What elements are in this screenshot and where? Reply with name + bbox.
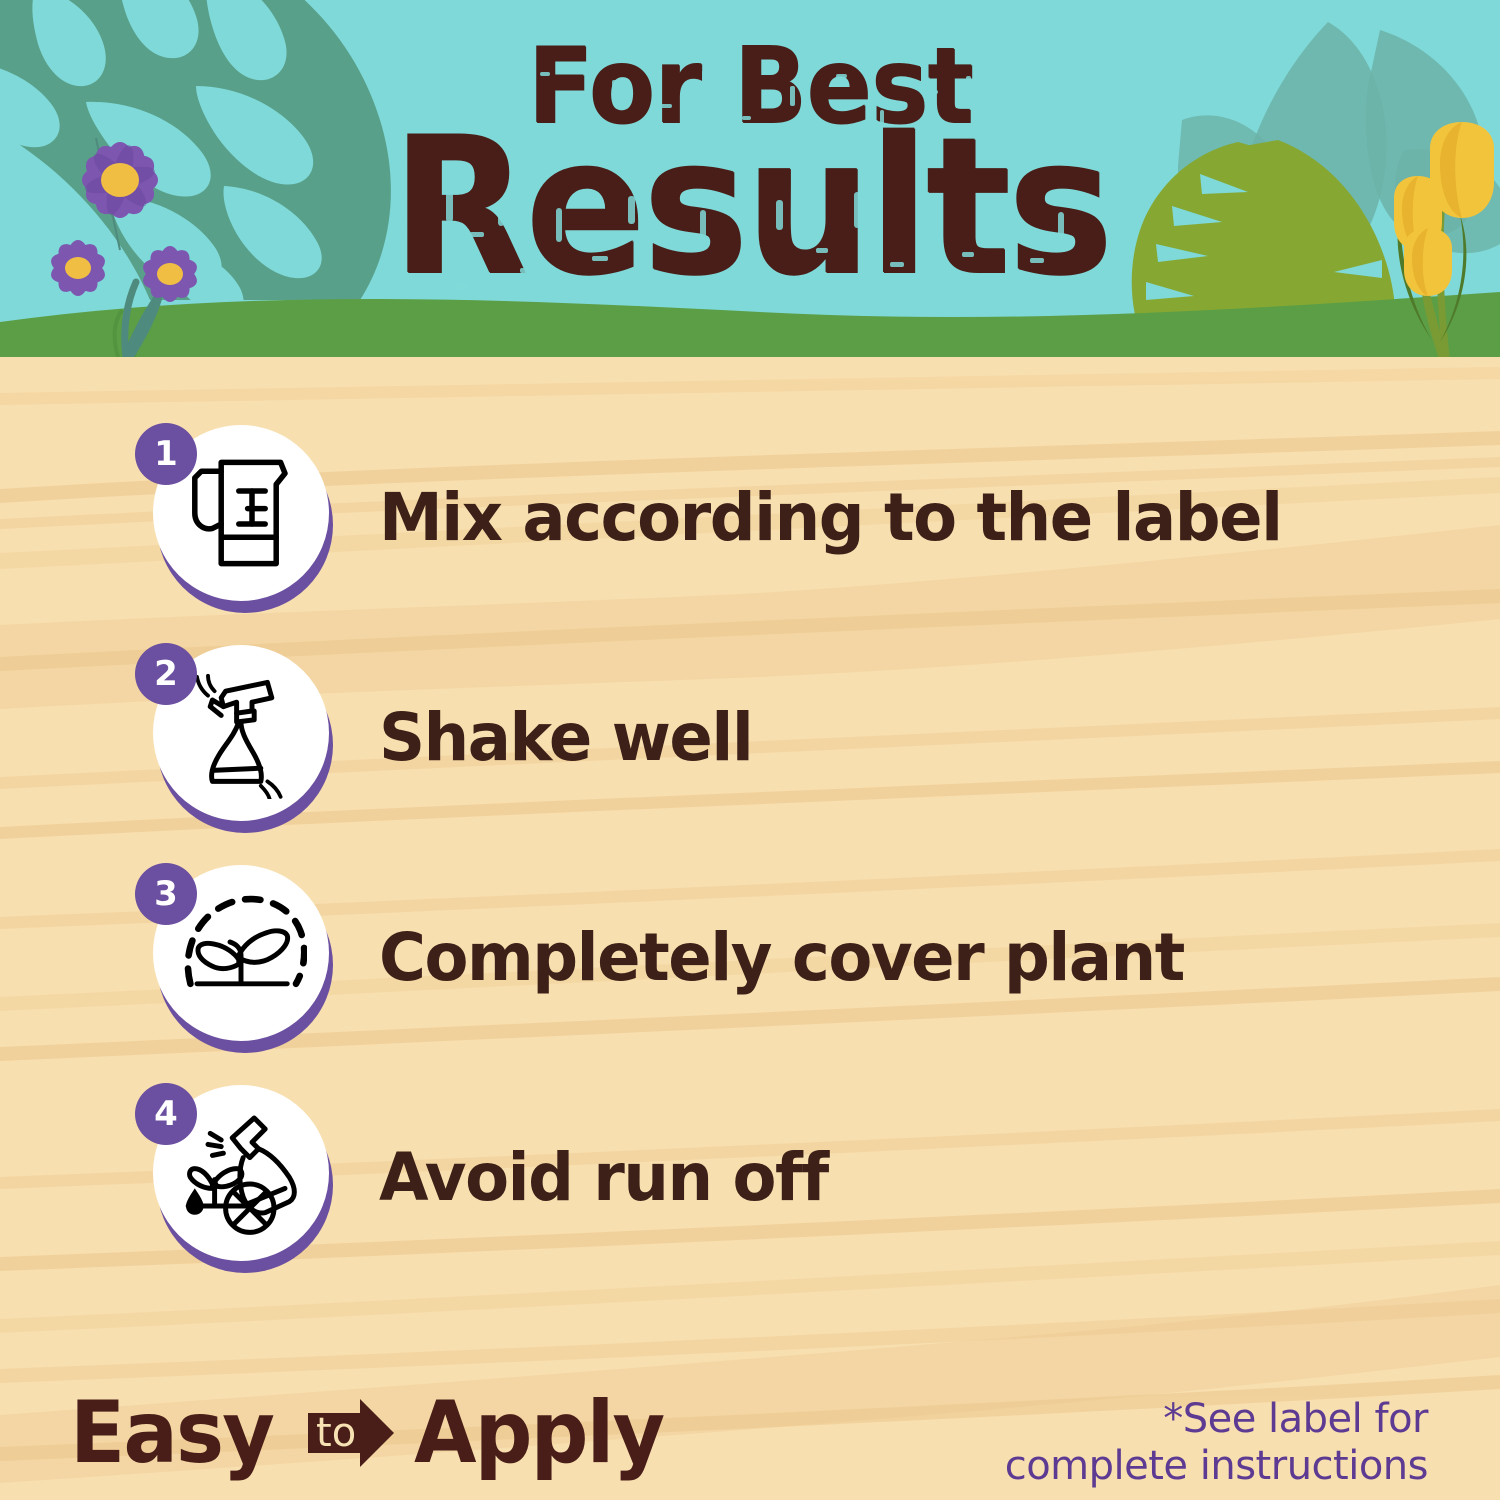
measuring-pitcher-icon xyxy=(175,447,307,579)
disclaimer-note: *See label for complete instructions xyxy=(1005,1396,1428,1490)
water-drop-icon xyxy=(186,1188,204,1214)
header-illustration xyxy=(0,0,1500,357)
infographic-poster: For Best Results xyxy=(0,0,1500,1500)
step-item-4[interactable]: 4 Avoid run off xyxy=(135,1077,842,1277)
header-banner: For Best Results xyxy=(0,0,1500,357)
step-item-1[interactable]: 1 Mix according to the label xyxy=(135,417,1310,617)
spray-bottle-shaking-icon xyxy=(175,667,307,799)
disclaimer-line-1: *See label for xyxy=(1005,1396,1428,1443)
step-badge-4: 4 xyxy=(135,1083,197,1145)
step-label-4: Avoid run off xyxy=(379,1139,828,1216)
step-icon-group-2: 2 xyxy=(135,637,335,837)
tulip-head-low xyxy=(1404,228,1452,296)
step-item-3[interactable]: 3 Completely cover plant xyxy=(135,857,1209,1057)
seedling-coverage-icon xyxy=(175,887,307,1019)
easy-word: Easy xyxy=(70,1390,273,1476)
step-label-2: Shake well xyxy=(379,699,752,776)
step-label-3: Completely cover plant xyxy=(379,919,1184,996)
easy-to-apply-tagline: Easy to Apply xyxy=(70,1390,679,1476)
step-icon-group-4: 4 xyxy=(135,1077,335,1277)
step-badge-3: 3 xyxy=(135,863,197,925)
step-badge-2: 2 xyxy=(135,643,197,705)
step-label-1: Mix according to the label xyxy=(379,479,1282,556)
disclaimer-line-2: complete instructions xyxy=(1005,1443,1428,1490)
no-runoff-spray-icon xyxy=(175,1107,307,1239)
apply-word: Apply xyxy=(414,1390,663,1476)
to-word: to xyxy=(316,1413,356,1453)
step-icon-group-3: 3 xyxy=(135,857,335,1057)
step-item-2[interactable]: 2 Shake well xyxy=(135,637,764,837)
to-arrow-badge: to xyxy=(302,1395,398,1471)
steps-list: 1 Mix according to the label xyxy=(0,357,1500,1500)
step-badge-1: 1 xyxy=(135,423,197,485)
step-icon-group-1: 1 xyxy=(135,417,335,617)
